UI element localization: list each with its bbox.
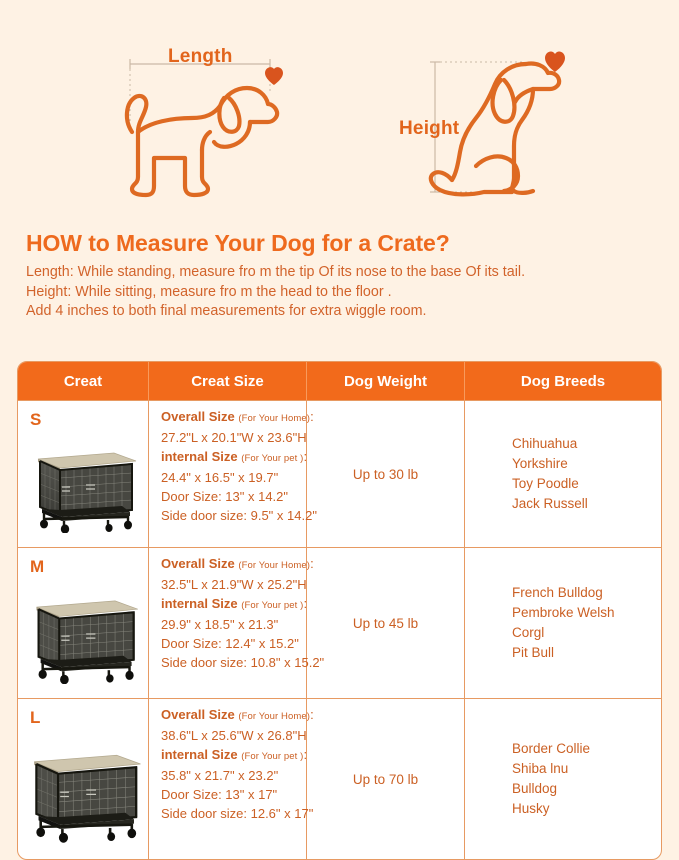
table-header-row: Creat Creat Size Dog Weight Dog Breeds [18,362,661,400]
door-size: Door Size: 13" x 14.2" [161,487,298,506]
heart-icon [265,67,283,85]
side-door-size: Side door size: 9.5" x 14.2" [161,506,298,525]
length-label: Length [168,46,233,68]
table-row: M [18,547,661,698]
list-item: Corgl [512,623,661,643]
column-header-creat-size: Creat Size [149,362,307,400]
internal-size-note: (For Your pet ) [241,453,303,464]
list-item: Jack Russell [512,494,661,514]
page-title: HOW to Measure Your Dog for a Crate? [26,230,679,257]
crate-size-letter: L [30,709,148,726]
overall-size-note: (For Your Home) [238,413,310,424]
crate-size-spec: Overall Size (For Your Home): 27.2"L x 2… [149,401,307,547]
overall-size-value: 32.5"L x 21.9"W x 25.2"H [161,575,298,594]
crate-size-letter: M [30,558,148,575]
dog-weight-value: Up to 70 lb [307,699,465,859]
dog-breeds-list: French Bulldog Pembroke Welsh Corgl Pit … [465,548,661,698]
dog-breeds-list: Chihuahua Yorkshire Toy Poodle Jack Russ… [465,401,661,547]
list-item: Toy Poodle [512,474,661,494]
overall-size-note: (For Your Home) [238,711,310,722]
dog-crate-image [18,575,148,692]
overall-size-label: Overall Size [161,409,235,424]
dog-crate-image [18,428,148,541]
list-item: Border Collie [512,739,661,759]
overall-size-value: 38.6"L x 25.6"W x 26.8"H [161,726,298,745]
internal-size-label: internal Size [161,449,238,464]
overall-size-value: 27.2"L x 20.1"W x 23.6"H [161,428,298,447]
measurement-illustrations: Length [0,0,679,230]
internal-size-note: (For Your pet ) [241,600,303,611]
internal-size-note: (For Your pet ) [241,751,303,762]
internal-size-label: internal Size [161,747,238,762]
crate-cell: S [18,401,149,547]
list-item: Shiba lnu [512,759,661,779]
crate-cell: L [18,699,149,859]
list-item: Yorkshire [512,454,661,474]
crate-size-spec: Overall Size (For Your Home): 32.5"L x 2… [149,548,307,698]
overall-size-label: Overall Size [161,707,235,722]
list-item: Pembroke Welsh [512,603,661,623]
list-item: Pit Bull [512,643,661,663]
column-header-dog-breeds: Dog Breeds [465,362,661,400]
column-header-dog-weight: Dog Weight [307,362,465,400]
crate-size-table: Creat Creat Size Dog Weight Dog Breeds S [17,361,662,860]
internal-size-value: 29.9" x 18.5" x 21.3" [161,615,298,634]
side-door-size: Side door size: 12.6" x 17" [161,804,298,823]
dog-weight-value: Up to 45 lb [307,548,465,698]
internal-size-value: 24.4" x 16.5" x 19.7" [161,468,298,487]
side-door-size: Side door size: 10.8" x 15.2" [161,653,298,672]
instruction-line-length: Length: While standing, measure fro m th… [26,263,656,283]
door-size: Door Size: 13" x 17" [161,785,298,804]
overall-size-note: (For Your Home) [238,560,310,571]
crate-size-letter: S [30,411,148,428]
infographic-page: Length [0,0,679,849]
instruction-line-height: Height: While sitting, measure fro m the… [26,283,656,303]
column-header-creat: Creat [18,362,149,400]
crate-cell: M [18,548,149,698]
overall-size-label: Overall Size [161,556,235,571]
list-item: French Bulldog [512,583,661,603]
list-item: Bulldog [512,779,661,799]
measurement-instructions: Length: While standing, measure fro m th… [26,263,656,322]
height-label: Height [399,118,459,140]
door-size: Door Size: 12.4" x 15.2" [161,634,298,653]
dog-breeds-list: Border Collie Shiba lnu Bulldog Husky [465,699,661,859]
table-row: S [18,400,661,547]
instruction-line-extra: Add 4 inches to both final measurements … [26,302,656,322]
table-row: L [18,698,661,859]
internal-size-value: 35.8" x 21.7" x 23.2" [161,766,298,785]
dog-crate-image [18,726,148,853]
dog-weight-value: Up to 30 lb [307,401,465,547]
internal-size-label: internal Size [161,596,238,611]
list-item: Chihuahua [512,434,661,454]
crate-size-spec: Overall Size (For Your Home): 38.6"L x 2… [149,699,307,859]
list-item: Husky [512,799,661,819]
